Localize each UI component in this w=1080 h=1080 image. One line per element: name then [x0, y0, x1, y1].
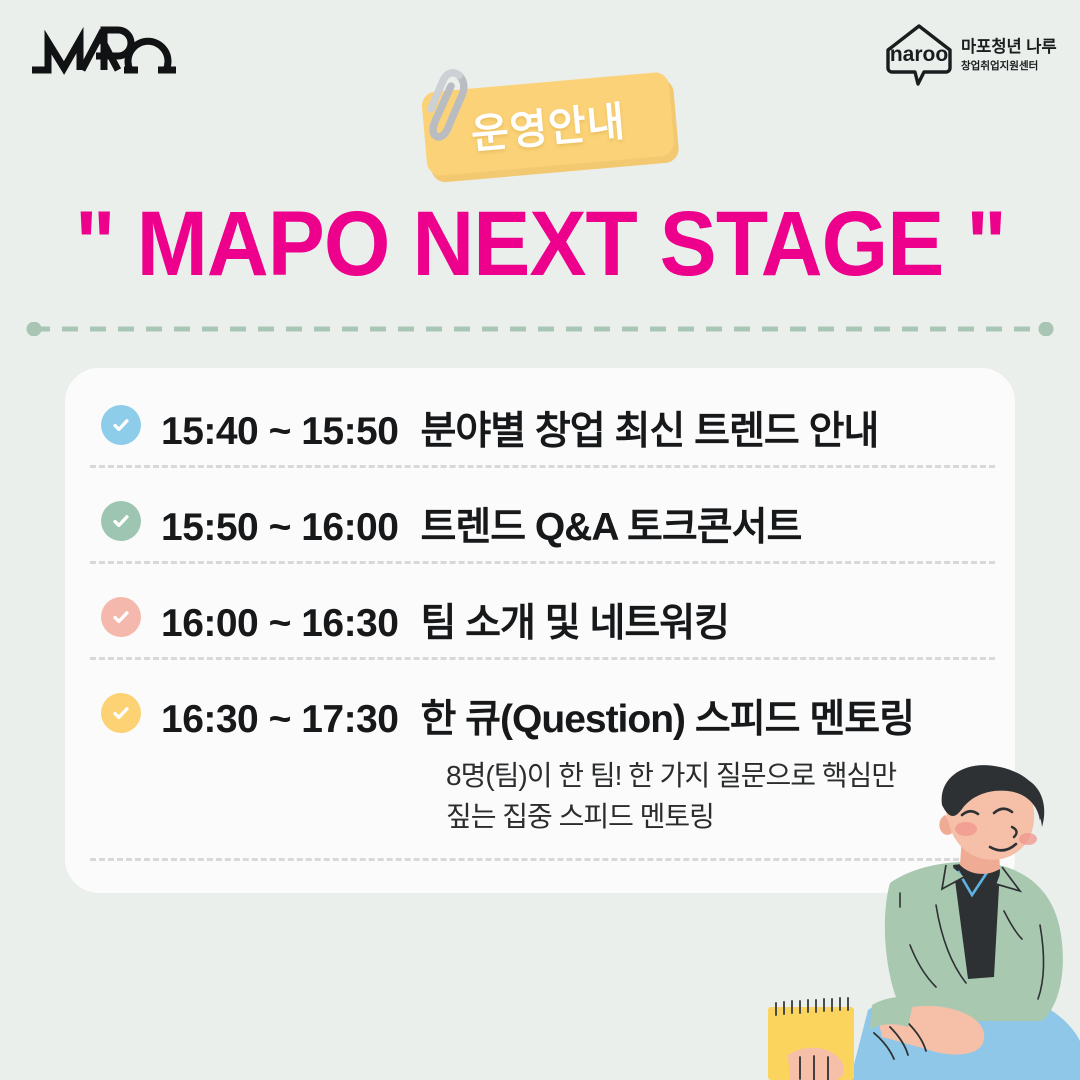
schedule-time-1: 15:40 ~ 15:50	[161, 410, 398, 454]
schedule-time-3: 16:00 ~ 16:30	[161, 602, 398, 646]
title-quote-open: "	[75, 193, 114, 295]
poster-canvas: naroo 마포청년 나루 창업취업지원센터 운영안내 " MAPO NEXT …	[0, 0, 1080, 1080]
seated-man-with-notepad-illustration	[750, 765, 1080, 1080]
row-divider-3	[90, 657, 995, 660]
check-circle-icon-4	[101, 693, 141, 733]
schedule-time-2: 15:50 ~ 16:00	[161, 506, 398, 550]
schedule-label-1: 분야별 창업 최신 트렌드 안내	[420, 400, 878, 456]
partner-name-line2: 창업취업지원센터	[961, 59, 1038, 72]
row-divider-1	[90, 465, 995, 468]
section-divider-rule	[20, 322, 1060, 336]
schedule-time-4: 16:30 ~ 17:30	[161, 698, 398, 742]
naroo-wordmark: naroo	[890, 43, 948, 66]
schedule-label-3: 팀 소개 및 네트워킹	[420, 592, 729, 648]
check-circle-icon-1	[101, 405, 141, 445]
schedule-label-4: 한 큐(Question) 스피드 멘토링	[420, 688, 914, 744]
paperclip-icon	[422, 64, 483, 154]
check-circle-icon-2	[101, 501, 141, 541]
schedule-label-2: 트렌드 Q&A 토크콘서트	[420, 496, 801, 552]
mapo-logo	[26, 22, 186, 78]
page-title: " MAPO NEXT STAGE "	[38, 196, 1042, 293]
title-text: MAPO NEXT STAGE	[137, 193, 944, 295]
naroo-logo: naroo 마포청년 나루 창업취업지원센터	[878, 16, 1066, 90]
schedule-row-2[interactable]: 15:50 ~ 16:00 트렌드 Q&A 토크콘서트	[101, 496, 981, 552]
row-divider-2	[90, 561, 995, 564]
check-circle-icon-3	[101, 597, 141, 637]
schedule-row-1[interactable]: 15:40 ~ 15:50 분야별 창업 최신 트렌드 안내	[101, 400, 981, 456]
title-quote-close: "	[966, 193, 1005, 295]
partner-name-line1: 마포청년 나루	[961, 36, 1057, 56]
operation-guide-tag: 운영안내	[414, 66, 684, 188]
schedule-row-3[interactable]: 16:00 ~ 16:30 팀 소개 및 네트워킹	[101, 592, 981, 648]
